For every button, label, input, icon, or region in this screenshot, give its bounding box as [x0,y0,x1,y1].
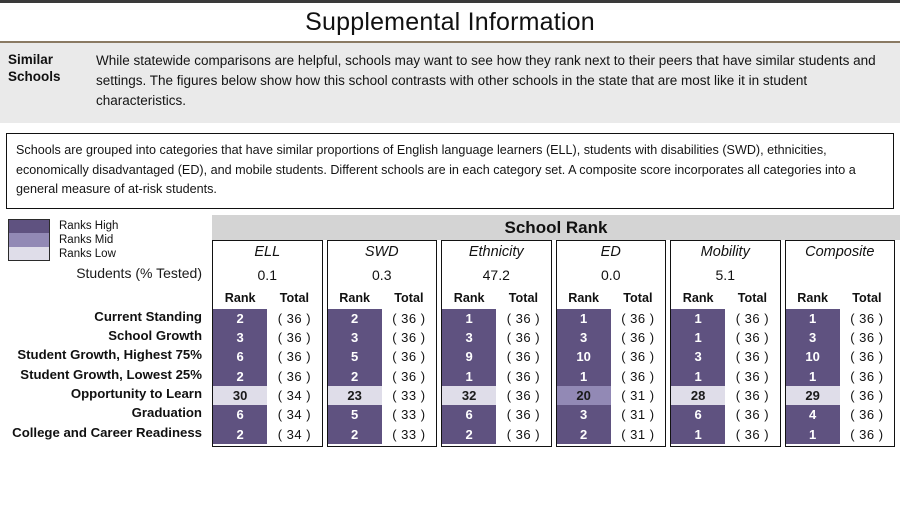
table-row: 3( 36 ) [786,328,895,347]
rank-value-cell: 23 [328,386,382,405]
row-label: Graduation [0,403,212,422]
column-group-percent-tested [786,263,895,287]
subheader-rank: Rank [557,291,611,305]
rank-value-cell: 29 [786,386,840,405]
rank-value-cell: 2 [557,425,611,444]
table-row: 3( 36 ) [671,347,780,366]
rank-value-cell: 1 [442,309,496,328]
column-group-name: ED [557,241,666,263]
column-group-name: Ethnicity [442,241,551,263]
total-value-cell: ( 36 ) [725,386,779,405]
total-value-cell: ( 36 ) [725,328,779,347]
rank-value-cell: 4 [786,405,840,424]
column-subheader: RankTotal [557,287,666,309]
legend-row: Ranks High [8,219,212,233]
rank-value-cell: 1 [671,425,725,444]
rank-value-cell: 28 [671,386,725,405]
rank-value-cell: 5 [328,347,382,366]
total-value-cell: ( 36 ) [496,425,550,444]
total-value-cell: ( 36 ) [496,405,550,424]
column-subheader: RankTotal [671,287,780,309]
total-value-cell: ( 36 ) [496,347,550,366]
total-value-cell: ( 36 ) [725,405,779,424]
column-subheader: RankTotal [786,287,895,309]
column-group-percent-tested: 0.1 [213,263,322,287]
total-value-cell: ( 36 ) [725,367,779,386]
rank-value-cell: 6 [213,347,267,366]
similar-schools-label-line2: Schools [8,68,88,85]
rank-value-cell: 3 [442,328,496,347]
table-row: 2( 34 ) [213,425,322,444]
column-group-name: Composite [786,241,895,263]
table-row: 29( 36 ) [786,386,895,405]
table-row: 3( 36 ) [557,328,666,347]
legend-label: Ranks Low [50,247,116,261]
table-row: 3( 31 ) [557,405,666,424]
total-value-cell: ( 36 ) [382,347,436,366]
total-value-cell: ( 36 ) [611,309,665,328]
rank-value-cell: 3 [328,328,382,347]
table-row: 1( 36 ) [671,367,780,386]
table-row: 10( 36 ) [786,347,895,366]
column-group: Ethnicity47.2RankTotal1( 36 )3( 36 )9( 3… [441,240,552,448]
total-value-cell: ( 34 ) [267,405,321,424]
column-group-name: SWD [328,241,437,263]
similar-schools-label-line1: Similar [8,51,88,68]
total-value-cell: ( 36 ) [267,367,321,386]
total-value-cell: ( 36 ) [611,328,665,347]
total-value-cell: ( 36 ) [840,367,894,386]
column-group: Mobility5.1RankTotal1( 36 )1( 36 )3( 36 … [670,240,781,448]
rank-value-cell: 6 [213,405,267,424]
rank-value-cell: 2 [442,425,496,444]
subheader-rank: Rank [442,291,496,305]
total-value-cell: ( 36 ) [840,425,894,444]
total-value-cell: ( 36 ) [611,367,665,386]
rank-value-cell: 5 [328,405,382,424]
rank-value-cell: 1 [442,367,496,386]
column-group: ELL0.1RankTotal2( 36 )3( 36 )6( 36 )2( 3… [212,240,323,448]
total-value-cell: ( 36 ) [267,347,321,366]
total-value-cell: ( 36 ) [496,309,550,328]
subheader-total: Total [382,291,436,305]
rank-value-cell: 1 [557,367,611,386]
total-value-cell: ( 36 ) [725,309,779,328]
rank-value-cell: 1 [671,309,725,328]
legend-swatch-icon [8,219,50,233]
total-value-cell: ( 36 ) [725,347,779,366]
legend-row: Ranks Mid [8,233,212,247]
rank-value-cell: 32 [442,386,496,405]
table-row: 6( 36 ) [671,405,780,424]
table-row: 1( 36 ) [442,309,551,328]
left-column: Ranks HighRanks MidRanks Low Students (%… [0,215,212,443]
column-group-percent-tested: 0.3 [328,263,437,287]
table-row: 28( 36 ) [671,386,780,405]
column-group-percent-tested: 47.2 [442,263,551,287]
column-group: SWD0.3RankTotal2( 36 )3( 36 )5( 36 )2( 3… [327,240,438,448]
table-row: 1( 36 ) [557,309,666,328]
table-row: 30( 34 ) [213,386,322,405]
subheader-total: Total [496,291,550,305]
table-row: 2( 36 ) [213,309,322,328]
rank-value-cell: 1 [671,367,725,386]
table-row: 1( 36 ) [442,367,551,386]
total-value-cell: ( 33 ) [382,425,436,444]
subheader-rank: Rank [786,291,840,305]
table-row: 2( 36 ) [213,367,322,386]
subheader-total: Total [611,291,665,305]
rank-value-cell: 1 [557,309,611,328]
rank-value-cell: 2 [328,425,382,444]
rank-value-cell: 2 [328,367,382,386]
subheader-rank: Rank [671,291,725,305]
rank-value-cell: 3 [557,328,611,347]
total-value-cell: ( 33 ) [382,386,436,405]
similar-schools-text: While statewide comparisons are helpful,… [88,51,900,111]
similar-schools-section: Similar Schools While statewide comparis… [0,43,900,123]
total-value-cell: ( 36 ) [725,425,779,444]
left-rank-spacer [0,285,212,307]
total-value-cell: ( 36 ) [840,405,894,424]
total-value-cell: ( 36 ) [267,328,321,347]
table-row: 2( 36 ) [328,367,437,386]
legend-label: Ranks Mid [50,233,113,247]
row-label: Opportunity to Learn [0,384,212,403]
table-row: 9( 36 ) [442,347,551,366]
students-tested-label: Students (% Tested) [0,261,212,285]
rank-value-cell: 1 [671,328,725,347]
subheader-total: Total [840,291,894,305]
legend-label: Ranks High [50,219,118,233]
table-row: 6( 36 ) [213,347,322,366]
rank-value-cell: 3 [213,328,267,347]
table-row: 1( 36 ) [786,309,895,328]
column-cells: 1( 36 )3( 36 )10( 36 )1( 36 )20( 31 )3( … [557,309,666,447]
table-row: 1( 36 ) [671,425,780,444]
subheader-rank: Rank [328,291,382,305]
total-value-cell: ( 36 ) [611,347,665,366]
rank-value-cell: 2 [213,425,267,444]
total-value-cell: ( 33 ) [382,405,436,424]
total-value-cell: ( 36 ) [496,367,550,386]
total-value-cell: ( 36 ) [840,347,894,366]
total-value-cell: ( 36 ) [382,309,436,328]
column-cells: 1( 36 )3( 36 )9( 36 )1( 36 )32( 36 )6( 3… [442,309,551,447]
table-row: 32( 36 ) [442,386,551,405]
column-subheader: RankTotal [442,287,551,309]
rank-value-cell: 30 [213,386,267,405]
table-row: 1( 36 ) [671,328,780,347]
total-value-cell: ( 36 ) [840,309,894,328]
table-row: 5( 36 ) [328,347,437,366]
column-group-name: ELL [213,241,322,263]
total-value-cell: ( 31 ) [611,386,665,405]
row-label: Student Growth, Highest 75% [0,345,212,364]
total-value-cell: ( 36 ) [382,328,436,347]
column-cells: 1( 36 )1( 36 )3( 36 )1( 36 )28( 36 )6( 3… [671,309,780,447]
total-value-cell: ( 36 ) [382,367,436,386]
rank-value-cell: 3 [671,347,725,366]
rank-value-cell: 2 [328,309,382,328]
legend-swatch-icon [8,233,50,247]
page-title: Supplemental Information [0,3,900,41]
row-label: Student Growth, Lowest 25% [0,365,212,384]
table-row: 3( 36 ) [328,328,437,347]
total-value-cell: ( 34 ) [267,425,321,444]
total-value-cell: ( 36 ) [496,386,550,405]
rank-legend: Ranks HighRanks MidRanks Low [0,215,212,261]
rank-value-cell: 1 [786,309,840,328]
rank-value-cell: 3 [786,328,840,347]
row-label: School Growth [0,326,212,345]
table-row: 5( 33 ) [328,405,437,424]
column-cells: 2( 36 )3( 36 )6( 36 )2( 36 )30( 34 )6( 3… [213,309,322,447]
rank-value-cell: 2 [213,367,267,386]
subheader-total: Total [725,291,779,305]
table-row: 23( 33 ) [328,386,437,405]
school-rank-table: School Rank ELL0.1RankTotal2( 36 )3( 36 … [212,215,900,448]
table-row: 1( 36 ) [786,425,895,444]
rank-value-cell: 9 [442,347,496,366]
table-row: 2( 36 ) [328,309,437,328]
column-groups: ELL0.1RankTotal2( 36 )3( 36 )6( 36 )2( 3… [212,240,900,448]
total-value-cell: ( 31 ) [611,425,665,444]
column-group-name: Mobility [671,241,780,263]
total-value-cell: ( 36 ) [840,386,894,405]
table-row: 10( 36 ) [557,347,666,366]
total-value-cell: ( 36 ) [267,309,321,328]
table-row: 2( 31 ) [557,425,666,444]
column-cells: 1( 36 )3( 36 )10( 36 )1( 36 )29( 36 )4( … [786,309,895,447]
rank-value-cell: 1 [786,367,840,386]
rank-value-cell: 6 [671,405,725,424]
column-group-percent-tested: 5.1 [671,263,780,287]
total-value-cell: ( 31 ) [611,405,665,424]
total-value-cell: ( 36 ) [840,328,894,347]
grouping-note-box: Schools are grouped into categories that… [6,133,894,209]
main-area: Ranks HighRanks MidRanks Low Students (%… [0,215,900,448]
rank-value-cell: 10 [557,347,611,366]
row-label: Current Standing [0,307,212,326]
similar-schools-label: Similar Schools [0,51,88,111]
table-row: 1( 36 ) [671,309,780,328]
table-row: 2( 33 ) [328,425,437,444]
table-row: 3( 36 ) [213,328,322,347]
legend-swatch-icon [8,247,50,261]
column-cells: 2( 36 )3( 36 )5( 36 )2( 36 )23( 33 )5( 3… [328,309,437,447]
table-row: 1( 36 ) [557,367,666,386]
rank-value-cell: 3 [557,405,611,424]
row-label: College and Career Readiness [0,423,212,442]
table-row: 6( 34 ) [213,405,322,424]
column-group-percent-tested: 0.0 [557,263,666,287]
column-group: ED0.0RankTotal1( 36 )3( 36 )10( 36 )1( 3… [556,240,667,448]
total-value-cell: ( 36 ) [496,328,550,347]
rank-value-cell: 2 [213,309,267,328]
row-label-list: Current StandingSchool GrowthStudent Gro… [0,307,212,443]
column-subheader: RankTotal [328,287,437,309]
rank-value-cell: 10 [786,347,840,366]
table-row: 2( 36 ) [442,425,551,444]
rank-value-cell: 1 [786,425,840,444]
table-row: 1( 36 ) [786,367,895,386]
school-rank-band-title: School Rank [212,215,900,240]
legend-row: Ranks Low [8,247,212,261]
rank-value-cell: 20 [557,386,611,405]
table-row: 4( 36 ) [786,405,895,424]
column-group: CompositeRankTotal1( 36 )3( 36 )10( 36 )… [785,240,896,448]
subheader-rank: Rank [213,291,267,305]
table-row: 6( 36 ) [442,405,551,424]
table-row: 20( 31 ) [557,386,666,405]
column-subheader: RankTotal [213,287,322,309]
table-row: 3( 36 ) [442,328,551,347]
subheader-total: Total [267,291,321,305]
total-value-cell: ( 34 ) [267,386,321,405]
rank-value-cell: 6 [442,405,496,424]
